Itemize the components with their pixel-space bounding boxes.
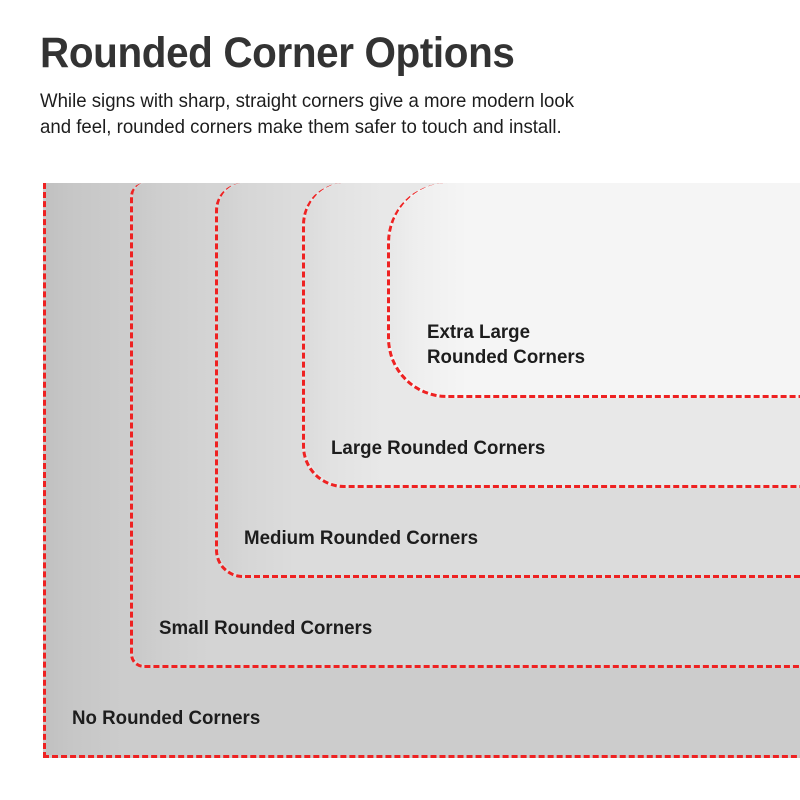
page-title: Rounded Corner Options	[40, 28, 717, 78]
page-subtitle-line-1: While signs with sharp, straight corners…	[40, 88, 747, 114]
layer-shading	[133, 183, 223, 665]
layer-label-medium-rounded-corners: Medium Rounded Corners	[244, 526, 478, 551]
page-subtitle-line-2: and feel, rounded corners make them safe…	[40, 114, 747, 140]
corner-options-diagram: No Rounded Corners Small Rounded Corners…	[0, 176, 800, 800]
diagram-top-edge	[0, 176, 800, 183]
layer-label-large-rounded-corners: Large Rounded Corners	[331, 436, 545, 461]
rounded-corner-options-infographic: Rounded Corner Options While signs with …	[0, 0, 800, 800]
layer-label-extra-large-rounded-corners: Extra Large Rounded Corners	[427, 320, 585, 370]
header: Rounded Corner Options While signs with …	[40, 28, 760, 140]
layer-label-small-rounded-corners: Small Rounded Corners	[159, 616, 372, 641]
layer-label-extra-large-line-1: Extra Large	[427, 320, 585, 345]
layer-shading	[218, 183, 308, 575]
layer-shading	[46, 183, 136, 755]
layer-extra-large-rounded-corners[interactable]: Extra Large Rounded Corners	[387, 183, 800, 398]
layer-label-extra-large-line-2: Rounded Corners	[427, 345, 585, 370]
layer-label-no-rounded-corners: No Rounded Corners	[72, 706, 260, 731]
page-subtitle: While signs with sharp, straight corners…	[40, 88, 747, 140]
